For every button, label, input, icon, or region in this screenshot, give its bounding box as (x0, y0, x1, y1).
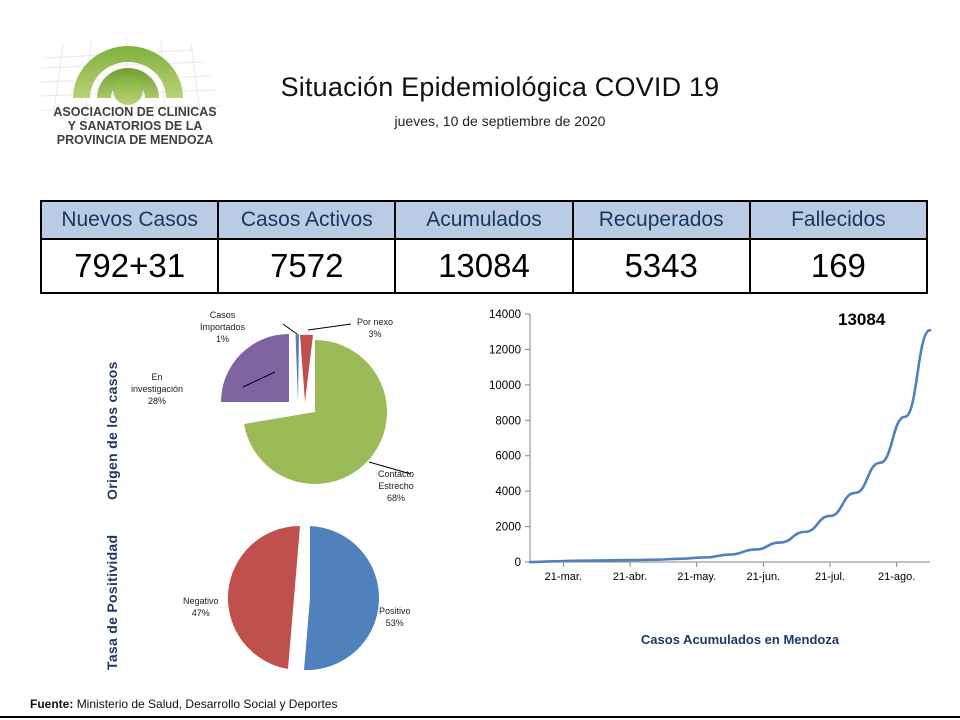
section-label-origen-de-los-casos: Origen de los casos (104, 370, 120, 500)
y-tick-label: 4000 (495, 486, 521, 498)
y-tick-label: 12000 (489, 344, 521, 356)
y-tick-label: 14000 (489, 309, 521, 321)
x-tick-label: 21-ago. (878, 571, 915, 583)
x-tick-label: 21-abr. (613, 571, 647, 583)
y-tick-label: 8000 (495, 415, 521, 427)
chart-title-casos-acumulados: Casos Acumulados en Mendoza (560, 632, 920, 647)
callout-en-investigacion: Eninvestigación28% (131, 371, 183, 407)
table-header-row: Nuevos Casos Casos Activos Acumulados Re… (41, 201, 927, 239)
x-tick-label: 21-mar. (545, 571, 582, 583)
line-series-casos-acumulados (530, 330, 930, 562)
logo-line-1: ASOCIACION DE CLINICAS (53, 105, 216, 119)
footer-divider (0, 716, 960, 718)
chart-last-value-label: 13084 (838, 310, 885, 330)
logo-line-3: PROVINCIA DE MENDOZA (57, 133, 214, 145)
stat-value-acumulados: 13084 (395, 239, 572, 293)
x-tick-label: 21-jul. (815, 571, 845, 583)
page-title: Situación Epidemiológica COVID 19 (200, 72, 800, 103)
y-tick-label: 6000 (495, 451, 521, 463)
callout-casos-importados: CasosImportados1% (200, 309, 245, 345)
x-tick-label: 21-jun. (747, 571, 781, 583)
stat-value-casos-activos: 7572 (218, 239, 395, 293)
y-tick-label: 2000 (495, 522, 521, 534)
callout-positivo: Positivo53% (379, 605, 411, 629)
summary-stats-table: Nuevos Casos Casos Activos Acumulados Re… (40, 200, 928, 294)
source-footer: Fuente: Ministerio de Salud, Desarrollo … (30, 697, 337, 711)
y-tick-label: 10000 (489, 380, 521, 392)
pie-slice-por-nexo (300, 335, 313, 402)
section-label-tasa-de-positividad: Tasa de Positividad (104, 520, 120, 670)
stat-header-acumulados: Acumulados (395, 201, 572, 239)
stat-header-nuevos-casos: Nuevos Casos (41, 201, 218, 239)
stat-header-casos-activos: Casos Activos (218, 201, 395, 239)
stat-value-recuperados: 5343 (573, 239, 750, 293)
pie-slice-negativo (228, 526, 300, 669)
stat-value-nuevos-casos: 792+31 (41, 239, 218, 293)
callout-negativo: Negativo47% (183, 595, 219, 619)
stat-header-fallecidos: Fallecidos (750, 201, 927, 239)
stat-header-recuperados: Recuperados (573, 201, 750, 239)
table-value-row: 792+31 7572 13084 5343 169 (41, 239, 927, 293)
x-tick-label: 21-may. (677, 571, 716, 583)
page-date: jueves, 10 de septiembre de 2020 (200, 113, 800, 129)
callout-contacto-estrecho: ContactoEstrecho68% (378, 468, 414, 504)
source-text: Ministerio de Salud, Desarrollo Social y… (77, 697, 338, 711)
source-label: Fuente: (30, 697, 73, 711)
y-tick-label: 0 (515, 557, 521, 569)
pie-slice-positivo (304, 526, 379, 670)
pie-slice-casos-importados (296, 334, 300, 402)
stat-value-fallecidos: 169 (750, 239, 927, 293)
line-chart-casos-acumulados: 0200040006000800010000120001400021-mar.2… (468, 300, 938, 600)
callout-por-nexo: Por nexo3% (357, 316, 393, 340)
logo-line-2: Y SANATORIOS DE LA (68, 119, 203, 133)
